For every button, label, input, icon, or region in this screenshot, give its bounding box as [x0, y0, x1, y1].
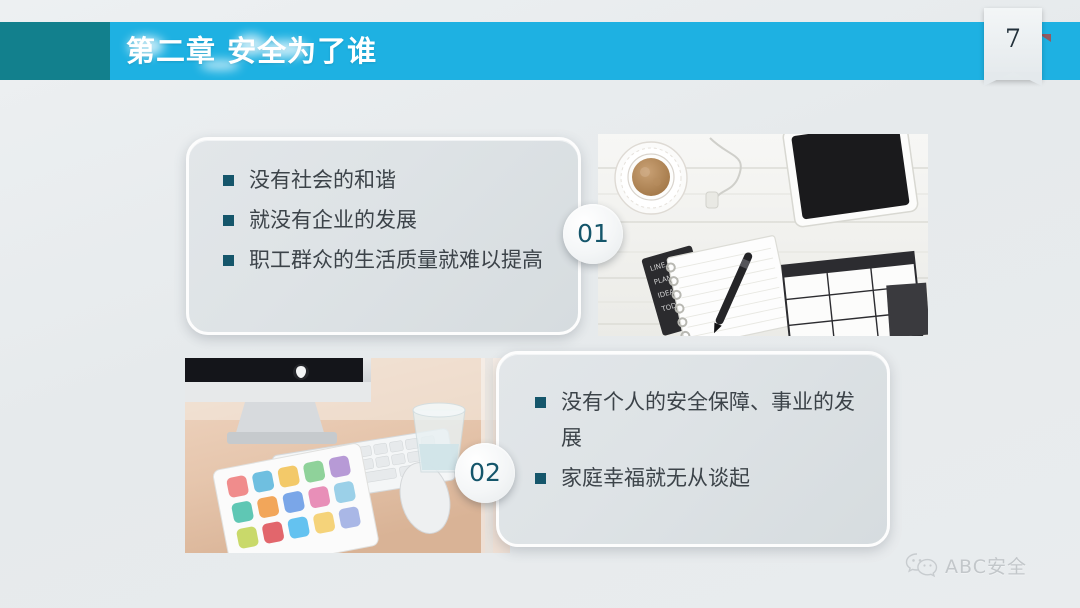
page-number-ribbon: 7: [984, 8, 1042, 90]
bullet-text: 家庭幸福就无从谈起: [561, 460, 750, 496]
bullet-square-icon: [223, 255, 234, 266]
list-item: 就没有企业的发展: [223, 202, 560, 238]
desk-flatlay-illustration: LINE PLAN IDEA TODO: [598, 134, 928, 336]
bullet-list-01: 没有社会的和谐 就没有企业的发展 职工群众的生活质量就难以提高: [223, 162, 560, 282]
content-card-01: 没有社会的和谐 就没有企业的发展 职工群众的生活质量就难以提高: [186, 137, 581, 335]
step-badge-01: 01: [563, 204, 623, 264]
bullet-text: 没有社会的和谐: [249, 162, 396, 198]
ribbon-notch: [984, 72, 1042, 86]
bullet-square-icon: [223, 215, 234, 226]
bullet-text: 没有个人的安全保障、事业的发展: [561, 384, 869, 456]
wechat-icon: [905, 551, 939, 579]
list-item: 没有社会的和谐: [223, 162, 560, 198]
slide-canvas: 第二章 安全为了谁 7: [0, 0, 1080, 608]
step-badge-02: 02: [455, 443, 515, 503]
bullet-list-02: 没有个人的安全保障、事业的发展 家庭幸福就无从谈起: [535, 384, 869, 500]
list-item: 职工群众的生活质量就难以提高: [223, 242, 560, 278]
header-left-block: [0, 22, 110, 80]
page-title: 第二章 安全为了谁: [126, 22, 377, 80]
bullet-text: 就没有企业的发展: [249, 202, 417, 238]
bullet-text: 职工群众的生活质量就难以提高: [249, 242, 543, 278]
watermark-text: ABC安全: [945, 552, 1027, 579]
bullet-square-icon: [535, 397, 546, 408]
watermark: ABC安全: [905, 545, 1070, 585]
photo-desk-flatlay: LINE PLAN IDEA TODO: [598, 134, 928, 336]
bullet-square-icon: [535, 473, 546, 484]
list-item: 没有个人的安全保障、事业的发展: [535, 384, 869, 456]
list-item: 家庭幸福就无从谈起: [535, 460, 869, 496]
content-card-02: 没有个人的安全保障、事业的发展 家庭幸福就无从谈起: [496, 351, 890, 547]
bullet-square-icon: [223, 175, 234, 186]
page-number: 7: [984, 8, 1042, 70]
